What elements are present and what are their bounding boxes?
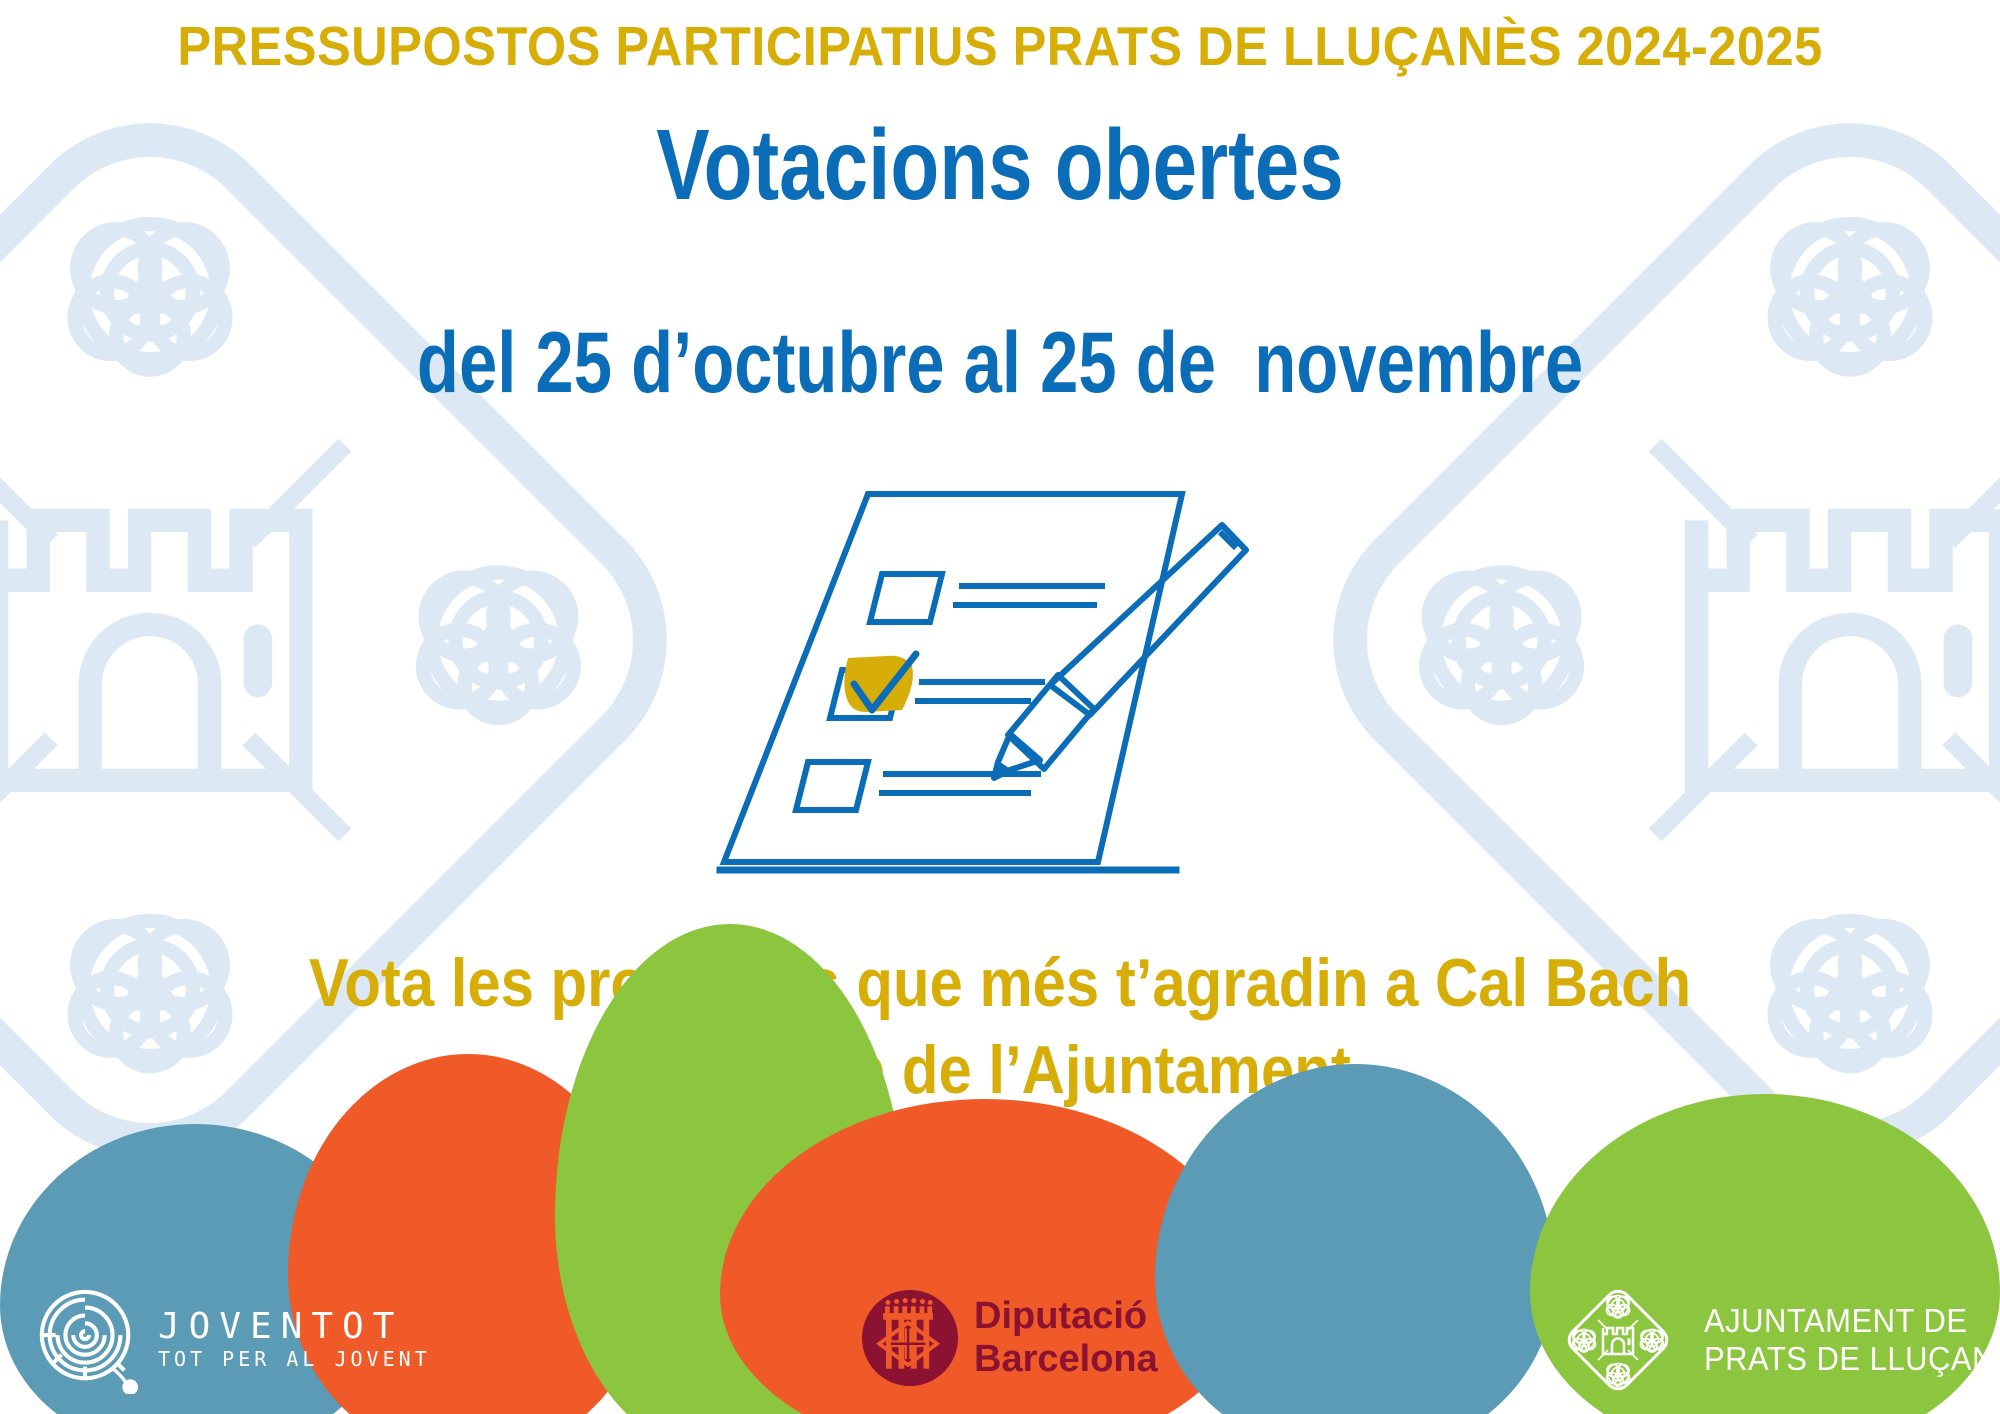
diputacio-crest-icon [862,1290,958,1386]
diputacio-line-2: Barcelona [974,1338,1158,1381]
pen-icon [994,525,1246,778]
voting-dates: del 25 d’octubre al 25 de novembre [200,320,1800,406]
prats-de-llucanes-crest-icon [1558,1280,1678,1400]
blob-teal-right [1155,1064,1555,1414]
logo-diputacio-barcelona: Diputació Barcelona [862,1290,1158,1386]
poster-canvas: PRESSUPOSTOS PARTICIPATIUS PRATS DE LLUÇ… [0,0,2000,1414]
logo-ajuntament: AJUNTAMENT DE PRATS DE LLUÇANÈS [1558,1280,2000,1400]
page-title: Votacions obertes [200,115,1800,215]
diputacio-line-1: Diputació [974,1295,1158,1338]
labyrinth-icon [34,1286,142,1394]
ajuntament-line-2: PRATS DE LLUÇANÈS [1704,1340,2000,1378]
ballot-paper-with-pen-icon [690,470,1250,890]
ajuntament-line-1: AJUNTAMENT DE [1704,1302,2000,1340]
page-kicker: PRESSUPOSTOS PARTICIPATIUS PRATS DE LLUÇ… [80,14,1920,78]
joventot-tagline: TOT PER AL JOVENT [158,1346,431,1372]
joventot-wordmark: JOVENTOT [158,1308,431,1346]
logo-joventot: JOVENTOT TOT PER AL JOVENT [34,1286,431,1394]
